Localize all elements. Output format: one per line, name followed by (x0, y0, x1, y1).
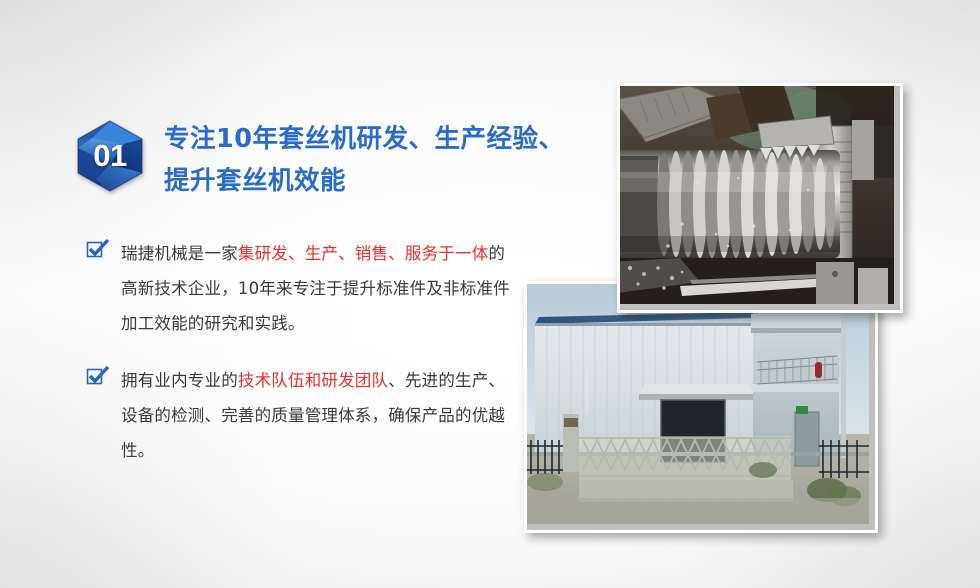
list-item: 瑞捷机械是一家集研发、生产、销售、服务于一体的高新技术企业，10年来专注于提升标… (86, 236, 526, 341)
promo-banner: 01 专注10年套丝机研发、生产经验、 提升套丝机效能 瑞捷机械是一家集研发、生… (0, 0, 980, 588)
feature-bullet-list: 瑞捷机械是一家集研发、生产、销售、服务于一体的高新技术企业，10年来专注于提升标… (86, 236, 526, 490)
headline-line-1: 专注10年套丝机研发、生产经验、 (164, 118, 565, 160)
page-title: 专注10年套丝机研发、生产经验、 提升套丝机效能 (164, 116, 565, 202)
headline-row: 01 专注10年套丝机研发、生产经验、 提升套丝机效能 (72, 116, 522, 202)
headline-line-2: 提升套丝机效能 (164, 160, 565, 202)
list-item-text: 瑞捷机械是一家集研发、生产、销售、服务于一体的高新技术企业，10年来专注于提升标… (121, 236, 521, 341)
hexagon-gem-icon: 01 (72, 118, 148, 194)
left-content-column: 01 专注10年套丝机研发、生产经验、 提升套丝机效能 瑞捷机械是一家集研发、生… (0, 0, 540, 588)
bullet1-highlight: 集研发、生产、销售、服务于一体 (238, 244, 489, 263)
bullet2-highlight: 技术队伍和研发团队 (238, 371, 388, 390)
threaded-rod-caliper-photo (617, 83, 903, 313)
list-item: 拥有业内专业的技术队伍和研发团队、先进的生产、设备的检测、完善的质量管理体系，确… (86, 363, 526, 468)
checkbox-checked-icon (86, 366, 110, 388)
badge-number: 01 (72, 118, 148, 194)
factory-building-photo (524, 281, 878, 533)
checkbox-checked-icon (86, 239, 110, 261)
list-item-text: 拥有业内专业的技术队伍和研发团队、先进的生产、设备的检测、完善的质量管理体系，确… (121, 363, 521, 468)
bullet1-part1: 瑞捷机械是一家 (121, 244, 238, 263)
bullet2-part1: 拥有业内专业的 (121, 371, 238, 390)
